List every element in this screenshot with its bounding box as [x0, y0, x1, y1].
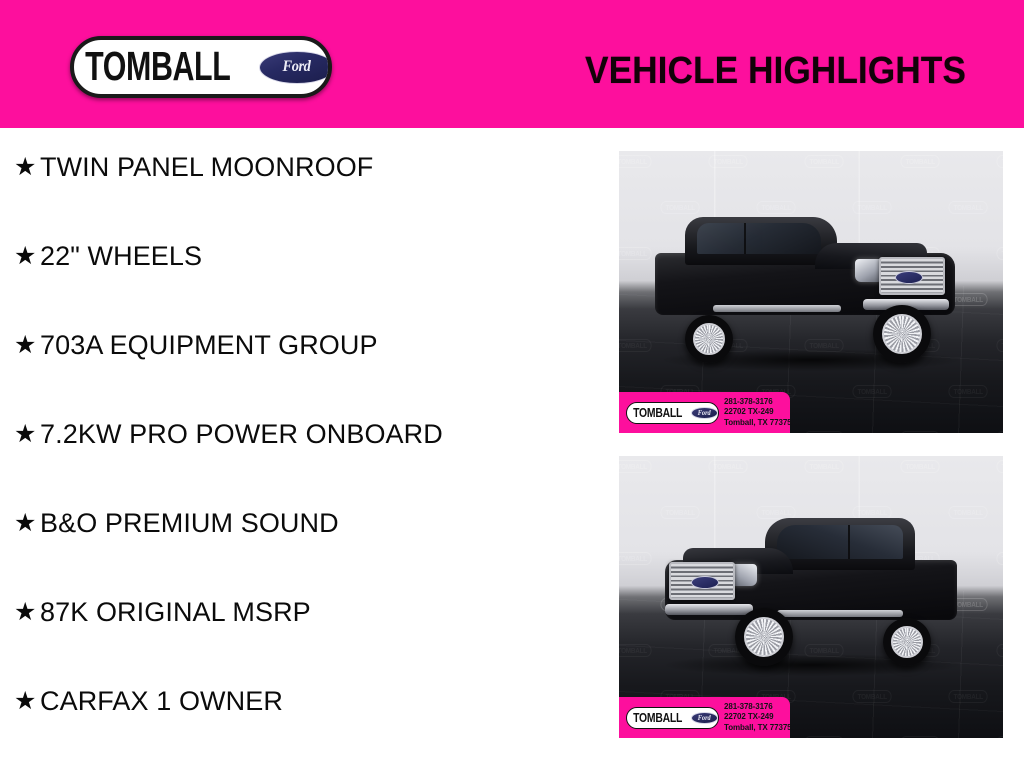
star-bullet-icon: ★ [14, 684, 40, 718]
watermark-text: TOMBALL [996, 644, 1003, 657]
watermark-text: TOMBALL [900, 736, 939, 738]
list-item: ★ 22" WHEELS [14, 239, 594, 328]
vehicle-highlights-list: ★ TWIN PANEL MOONROOF ★ 22" WHEELS ★ 703… [14, 150, 594, 768]
watermark-text: TOMBALL [852, 690, 891, 703]
watermark-text: TOMBALL [804, 736, 843, 738]
dealer-logo-wordmark: TOMBALL [85, 46, 230, 87]
overlay-dealer-logo: TOMBALL Ford [626, 402, 719, 424]
watermark-text: TOMBALL [948, 690, 987, 703]
highlight-label: 22" WHEELS [40, 239, 202, 273]
watermark-text: TOMBALL [619, 339, 652, 352]
watermark-text: TOMBALL [804, 460, 843, 473]
list-item: ★ CARFAX 1 OWNER [14, 684, 594, 768]
watermark-text: TOMBALL [996, 460, 1003, 473]
watermark-text: TOMBALL [948, 385, 987, 398]
dealer-address-line1: 22702 TX-249 [724, 407, 792, 418]
watermark-text: TOMBALL [619, 552, 652, 565]
watermark-text: TOMBALL [900, 155, 939, 168]
truck-illustration [655, 213, 967, 363]
dealer-phone: 281-378-3176 [724, 397, 792, 408]
watermark-text: TOMBALL [996, 339, 1003, 352]
dealer-contact-overlay: TOMBALL Ford 281-378-3176 22702 TX-249 T… [619, 697, 790, 738]
watermark-text: TOMBALL [619, 247, 652, 260]
highlight-label: 703A EQUIPMENT GROUP [40, 328, 378, 362]
dealer-address-line2: Tomball, TX 77375 [724, 418, 792, 429]
highlight-label: 7.2KW PRO POWER ONBOARD [40, 417, 443, 451]
watermark-text: TOMBALL [708, 155, 747, 168]
header-banner: TOMBALL Ford VEHICLE HIGHLIGHTS [0, 0, 1024, 128]
overlay-dealer-logo: TOMBALL Ford [626, 707, 719, 729]
highlight-label: TWIN PANEL MOONROOF [40, 150, 373, 184]
truck-illustration [657, 516, 967, 668]
overlay-contact-info: 281-378-3176 22702 TX-249 Tomball, TX 77… [724, 702, 792, 734]
watermark-text: TOMBALL [996, 247, 1003, 260]
vehicle-photo-front-driver: TOMBALLTOMBALLTOMBALLTOMBALLTOMBALLTOMBA… [619, 456, 1003, 738]
list-item: ★ 87K ORIGINAL MSRP [14, 595, 594, 684]
list-item: ★ 7.2KW PRO POWER ONBOARD [14, 417, 594, 506]
star-bullet-icon: ★ [14, 506, 40, 540]
watermark-text: TOMBALL [996, 431, 1003, 433]
watermark-text: TOMBALL [900, 460, 939, 473]
ford-oval-label: Ford [283, 58, 311, 76]
watermark-text: TOMBALL [996, 552, 1003, 565]
dealer-address-line1: 22702 TX-249 [724, 712, 792, 723]
list-item: ★ 703A EQUIPMENT GROUP [14, 328, 594, 417]
watermark-text: TOMBALL [619, 644, 652, 657]
highlight-label: CARFAX 1 OWNER [40, 684, 283, 718]
watermark-text: TOMBALL [996, 736, 1003, 738]
overlay-logo-wordmark: TOMBALL [633, 406, 682, 419]
list-item: ★ B&O PREMIUM SOUND [14, 506, 594, 595]
star-bullet-icon: ★ [14, 328, 40, 362]
overlay-contact-info: 281-378-3176 22702 TX-249 Tomball, TX 77… [724, 397, 792, 429]
dealer-logo: TOMBALL Ford [70, 36, 332, 98]
star-bullet-icon: ★ [14, 239, 40, 273]
dealer-address-line2: Tomball, TX 77375 [724, 723, 792, 734]
dealer-contact-overlay: TOMBALL Ford 281-378-3176 22702 TX-249 T… [619, 392, 790, 433]
watermark-text: TOMBALL [619, 155, 652, 168]
ford-oval-icon: Ford [691, 407, 718, 419]
dealer-phone: 281-378-3176 [724, 702, 792, 713]
watermark-text: TOMBALL [852, 385, 891, 398]
highlight-label: B&O PREMIUM SOUND [40, 506, 339, 540]
watermark-text: TOMBALL [708, 460, 747, 473]
overlay-logo-wordmark: TOMBALL [633, 711, 682, 724]
list-item: ★ TWIN PANEL MOONROOF [14, 150, 594, 239]
star-bullet-icon: ★ [14, 150, 40, 184]
watermark-text: TOMBALL [900, 431, 939, 433]
watermark-text: TOMBALL [804, 431, 843, 433]
watermark-text: TOMBALL [804, 155, 843, 168]
ford-oval-label: Ford [698, 714, 711, 722]
ford-oval-icon: Ford [259, 51, 332, 84]
page-title: VEHICLE HIGHLIGHTS [585, 50, 938, 92]
ford-oval-label: Ford [698, 409, 711, 417]
watermark-text: TOMBALL [996, 155, 1003, 168]
highlight-label: 87K ORIGINAL MSRP [40, 595, 311, 629]
ford-oval-icon: Ford [691, 712, 718, 724]
vehicle-photo-front-passenger: TOMBALLTOMBALLTOMBALLTOMBALLTOMBALLTOMBA… [619, 151, 1003, 433]
star-bullet-icon: ★ [14, 595, 40, 629]
star-bullet-icon: ★ [14, 417, 40, 451]
watermark-text: TOMBALL [619, 460, 652, 473]
